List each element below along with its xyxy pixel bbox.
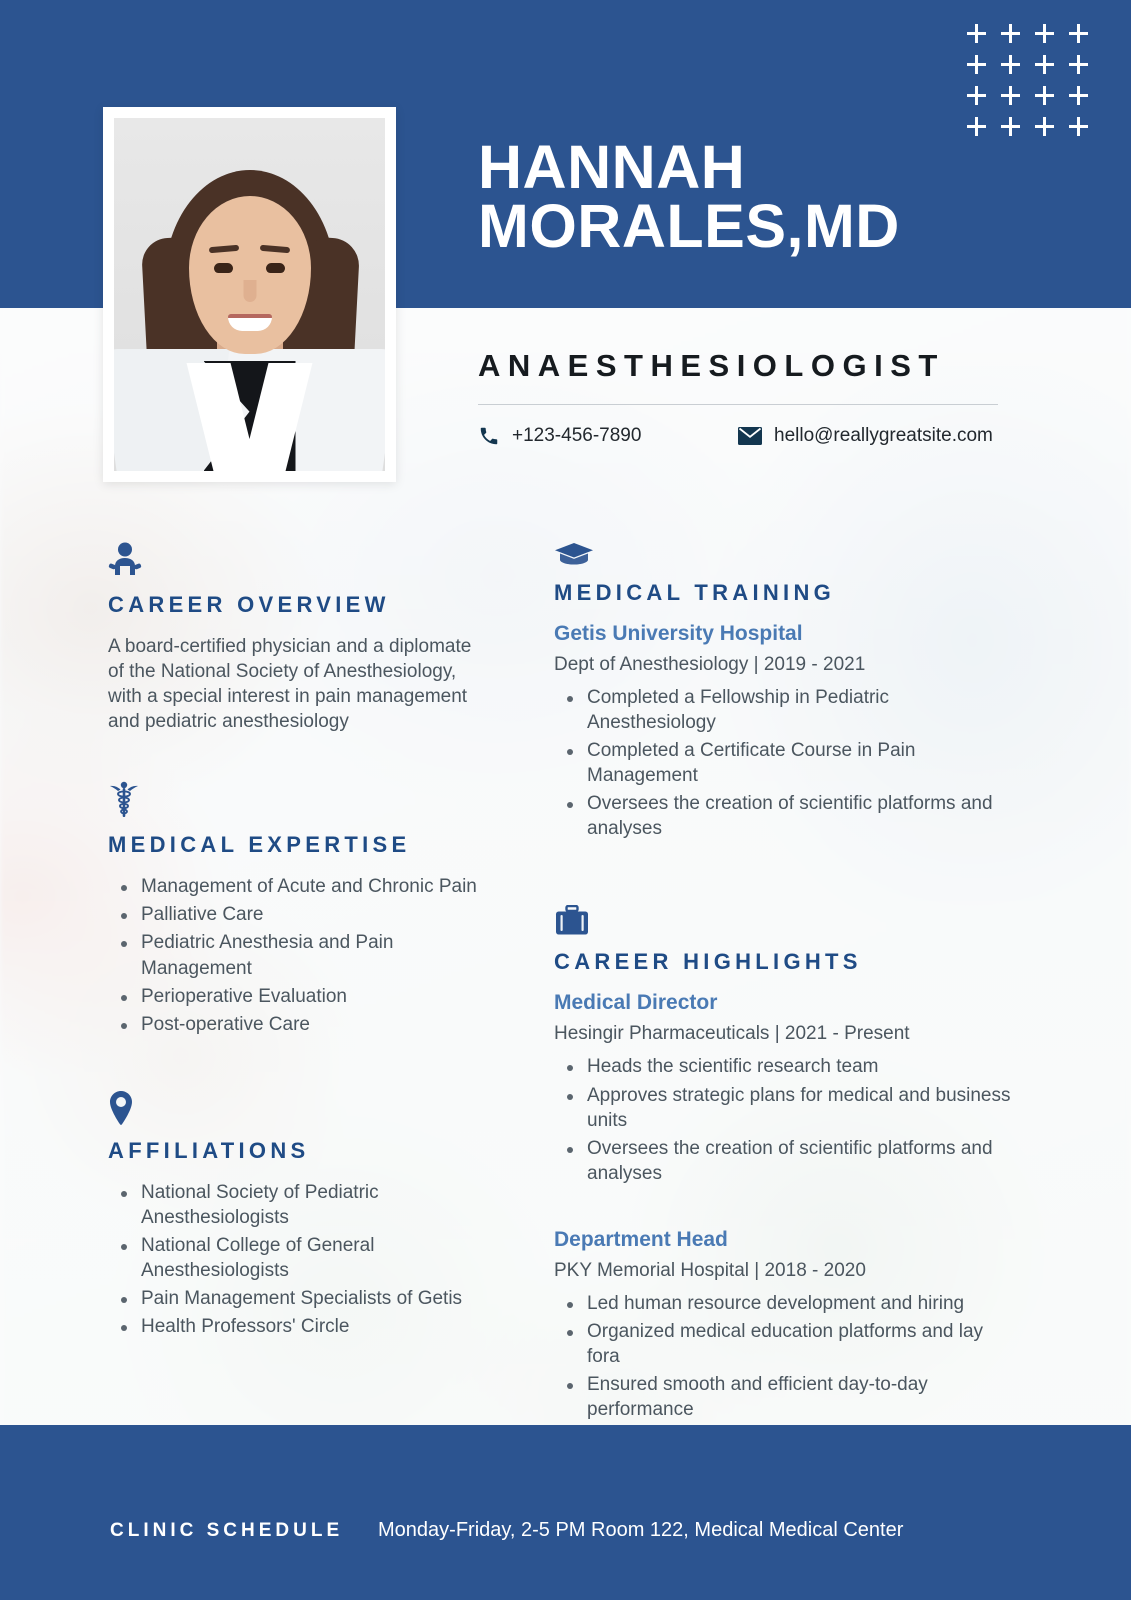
- left-column: CAREER OVERVIEW A board-certified physic…: [108, 540, 500, 1342]
- list-item: Health Professors' Circle: [108, 1314, 500, 1339]
- section-title-medical-training: MEDICAL TRAINING: [554, 580, 1014, 606]
- highlight-meta: PKY Memorial Hospital | 2018 - 2020: [554, 1260, 1014, 1282]
- medical-expertise-list: Management of Acute and Chronic Pain Pal…: [108, 874, 500, 1036]
- section-affiliations: AFFILIATIONS National Society of Pediatr…: [108, 1086, 500, 1339]
- affiliations-list: National Society of Pediatric Anesthesio…: [108, 1180, 500, 1339]
- section-title-career-highlights: CAREER HIGHLIGHTS: [554, 949, 1014, 975]
- training-entry: Getis University Hospital Dept of Anesth…: [554, 622, 1014, 841]
- training-list: Completed a Fellowship in Pediatric Anes…: [554, 685, 1014, 841]
- contact-phone[interactable]: +123-456-7890: [478, 425, 641, 447]
- email-address: hello@reallygreatsite.com: [774, 425, 993, 447]
- contact-bar: +123-456-7890 hello@reallygreatsite.com: [478, 425, 1018, 459]
- highlight-role: Department Head: [554, 1228, 1014, 1252]
- list-item: Completed a Certificate Course in Pain M…: [554, 738, 1014, 788]
- list-item: Completed a Fellowship in Pediatric Anes…: [554, 685, 1014, 735]
- plus-grid-icon: [959, 18, 1095, 142]
- job-title: ANAESTHESIOLOGIST: [478, 348, 945, 384]
- list-item: Oversees the creation of scientific plat…: [554, 791, 1014, 841]
- list-item: Management of Acute and Chronic Pain: [108, 874, 500, 899]
- envelope-icon: [738, 427, 762, 445]
- footer-banner: CLINIC SCHEDULE Monday-Friday, 2-5 PM Ro…: [0, 1425, 1131, 1600]
- clinic-schedule-label: CLINIC SCHEDULE: [110, 1520, 343, 1542]
- list-item: Approves strategic plans for medical and…: [554, 1083, 1014, 1133]
- contact-email[interactable]: hello@reallygreatsite.com: [738, 425, 993, 447]
- section-career-highlights: CAREER HIGHLIGHTS Medical Director Hesin…: [554, 897, 1014, 1422]
- highlight-meta: Hesingir Pharmaceuticals | 2021 - Presen…: [554, 1023, 1014, 1045]
- location-pin-icon: [108, 1086, 500, 1126]
- briefcase-icon: [554, 897, 1014, 937]
- phone-number: +123-456-7890: [512, 425, 641, 447]
- list-item: Oversees the creation of scientific plat…: [554, 1136, 1014, 1186]
- caduceus-icon: [108, 780, 500, 820]
- portrait-photo: [114, 118, 385, 471]
- resume-page: HANNAH MORALES,MD ANAESTHESIOLOGIST: [0, 0, 1131, 1600]
- name-line-second: MORALES,MD: [478, 197, 1098, 256]
- list-item: Post-operative Care: [108, 1012, 500, 1037]
- list-item: Perioperative Evaluation: [108, 984, 500, 1009]
- highlight-list: Heads the scientific research team Appro…: [554, 1054, 1014, 1185]
- section-medical-expertise: MEDICAL EXPERTISE Management of Acute an…: [108, 780, 500, 1036]
- section-career-overview: CAREER OVERVIEW A board-certified physic…: [108, 540, 500, 734]
- training-meta: Dept of Anesthesiology | 2019 - 2021: [554, 654, 1014, 676]
- graduation-cap-icon: [554, 528, 1014, 568]
- phone-icon: [478, 425, 500, 447]
- list-item: Organized medical education platforms an…: [554, 1319, 1014, 1369]
- career-overview-text: A board-certified physician and a diplom…: [108, 634, 488, 734]
- list-item: National Society of Pediatric Anesthesio…: [108, 1180, 500, 1230]
- page-title: HANNAH MORALES,MD: [478, 138, 1098, 256]
- list-item: Heads the scientific research team: [554, 1054, 1014, 1079]
- divider: [478, 404, 998, 405]
- list-item: Led human resource development and hirin…: [554, 1291, 1014, 1316]
- name-line-first: HANNAH: [478, 138, 1098, 197]
- highlight-entry: Medical Director Hesingir Pharmaceutical…: [554, 991, 1014, 1185]
- highlight-entry: Department Head PKY Memorial Hospital | …: [554, 1228, 1014, 1422]
- section-title-affiliations: AFFILIATIONS: [108, 1138, 500, 1164]
- clinic-schedule-text: Monday-Friday, 2-5 PM Room 122, Medical …: [378, 1519, 903, 1542]
- list-item: National College of General Anesthesiolo…: [108, 1233, 500, 1283]
- training-institution: Getis University Hospital: [554, 622, 1014, 646]
- highlight-role: Medical Director: [554, 991, 1014, 1015]
- section-title-career-overview: CAREER OVERVIEW: [108, 592, 500, 618]
- list-item: Pain Management Specialists of Getis: [108, 1286, 500, 1311]
- list-item: Pediatric Anesthesia and Pain Management: [108, 930, 500, 980]
- person-icon: [108, 540, 500, 580]
- list-item: Palliative Care: [108, 902, 500, 927]
- highlight-list: Led human resource development and hirin…: [554, 1291, 1014, 1422]
- avatar: [103, 107, 396, 482]
- section-medical-training: MEDICAL TRAINING Getis University Hospit…: [554, 528, 1014, 841]
- list-item: Ensured smooth and efficient day-to-day …: [554, 1372, 1014, 1422]
- right-column: MEDICAL TRAINING Getis University Hospit…: [554, 528, 1014, 1442]
- section-title-medical-expertise: MEDICAL EXPERTISE: [108, 832, 500, 858]
